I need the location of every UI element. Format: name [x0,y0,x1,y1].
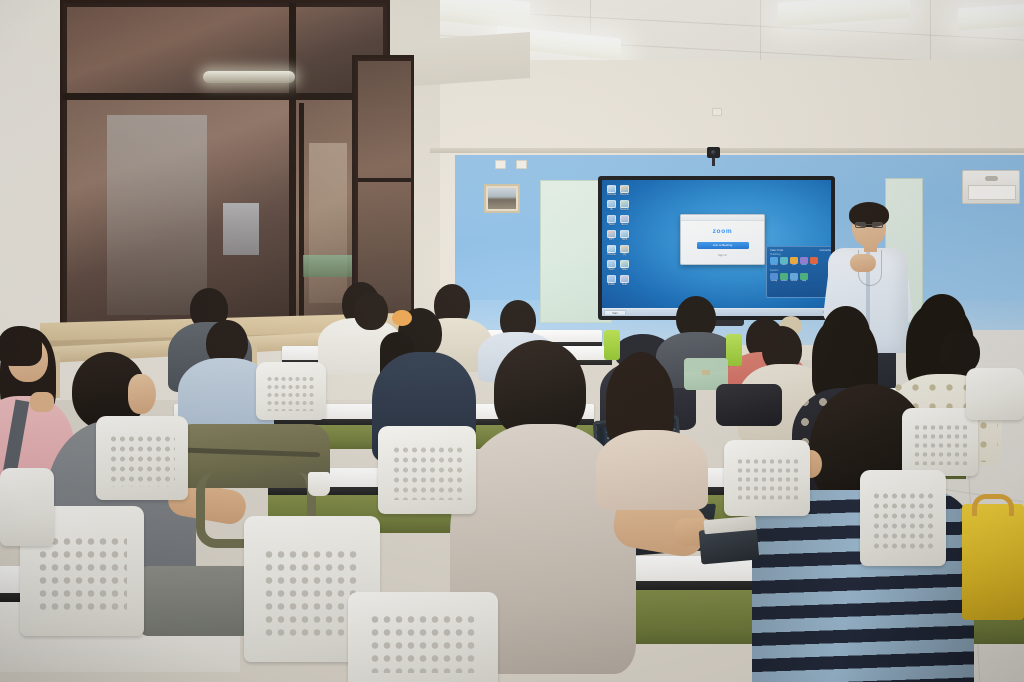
framed-photo [484,184,520,213]
desktop-icon[interactable]: WPS [620,230,629,241]
launcher-app-icon [800,273,808,280]
display-screen[interactable]: ComputerRecycleIENetworkWordExcelPPTWPSC… [602,180,831,316]
desktop-icon[interactable]: Network [620,200,629,211]
photo-image [488,188,516,209]
join-meeting-button[interactable]: Join a Meeting [697,242,749,249]
desktop-icon[interactable]: Chrome [607,245,616,256]
chair-far-left-back[interactable] [0,468,54,546]
launcher-app-icon [810,257,818,264]
desktop-icon-glyph [620,200,629,208]
launcher-app[interactable]: Source [790,273,798,283]
launcher-app-row: RecordNotesQuizShareCast [767,256,831,268]
desktop-icon[interactable]: Video [620,260,629,271]
green-bottle-2[interactable] [726,334,742,366]
desktop-icon-label: Recycle [620,193,629,196]
desktop-icon-label: Word [607,223,616,226]
corridor-reflection [107,115,207,315]
chair-front-center-2[interactable] [348,592,498,682]
yellow-tote-bag[interactable] [962,504,1024,620]
chair-right-back[interactable] [966,368,1024,420]
corridor-bench [303,255,357,277]
chair-back-left[interactable] [256,362,326,420]
wall-trim-rail [430,148,1024,153]
join-meeting-label: Join a Meeting [697,242,749,249]
launcher-app-icon [770,257,778,264]
light-switch-1[interactable] [495,160,506,169]
av-control-panel[interactable] [962,170,1020,204]
desktop-icon[interactable]: Tools [620,275,629,286]
zoom-titlebar[interactable] [681,215,764,221]
desktop-icon-label: QQ [620,253,629,256]
projection-display[interactable]: ComputerRecycleIENetworkWordExcelPPTWPSC… [598,176,835,320]
launcher-app-label: Quiz [790,264,798,267]
control-panel-display [968,185,1016,200]
launcher-app[interactable]: Quiz [790,257,798,267]
window-left [60,0,390,330]
desktop-icon-glyph [607,245,616,253]
corridor-poster [223,203,259,255]
launcher-app-icon [790,273,798,280]
corridor-door [309,143,347,303]
classroom-scene: ComputerRecycleIENetworkWordExcelPPTWPSC… [0,0,1024,682]
chair-mid-right[interactable] [724,440,810,516]
launcher-app-icon [770,273,778,280]
desktop-icon[interactable]: Word [607,215,616,226]
windows-taskbar[interactable]: Start 10:42 [602,308,831,316]
launcher-app-label: Share [800,264,808,267]
desktop-icon-label: Video [620,268,629,271]
start-button[interactable]: Start [604,310,626,316]
launcher-app[interactable]: Notes [780,257,788,267]
desktop-icon[interactable]: PPT [607,230,616,241]
desktop-icon-glyph [620,215,629,223]
student-shorts [140,566,250,636]
launcher-app[interactable]: Cast [810,257,818,267]
desktop-icon-label: IE [607,208,616,211]
green-bottle-1[interactable] [604,330,620,360]
desktop-icon-label: Tools [620,283,629,286]
launcher-status: Connected [819,249,831,252]
launcher-app[interactable]: Share [800,257,808,267]
student-face [128,374,156,414]
hair-scrunchie [392,310,412,326]
desktop-icon[interactable]: Excel [620,215,629,226]
launcher-app[interactable]: Setting [770,273,778,283]
launcher-sections: TeachingRecordNotesQuizShareCastSystemSe… [767,252,831,283]
desktop-icon-label: Excel [620,223,629,226]
light-switch-2[interactable] [516,160,527,169]
launcher-app[interactable]: Help [800,273,808,283]
instructor-hands [850,254,876,272]
launcher-app-icon [780,273,788,280]
handbag-clasp [702,370,710,375]
desktop-icon-label: PPT [607,238,616,241]
paper-cup[interactable] [308,472,330,496]
zoom-window[interactable]: zoom Join a Meeting Sign In [680,214,765,265]
sign-in-link[interactable]: Sign In [681,253,764,257]
black-bag [716,384,782,426]
desktop-icon-glyph [607,275,616,283]
launcher-app-label: Source [790,280,798,283]
launcher-app-label: Setting [770,280,778,283]
launcher-app-icon [800,257,808,264]
launcher-app-label: Record [770,264,778,267]
desktop-icon-glyph [607,230,616,238]
chair-mid-center[interactable] [378,426,476,514]
desktop-icon-glyph [607,200,616,208]
desktop-icon-label: WPS [620,238,629,241]
desktop-icon[interactable]: Recycle [620,185,629,196]
launcher-app[interactable]: Record [770,257,778,267]
desktop-icon[interactable]: IE [607,200,616,211]
chair-mid-left[interactable] [96,416,188,500]
corridor-light [203,71,295,83]
start-label: Start [605,311,625,317]
classroom-launcher-panel[interactable]: Class Tools Connected TeachingRecordNote… [766,246,831,298]
desktop-icon-label: Zoom [607,268,616,271]
desktop-icon-glyph [620,230,629,238]
desktop-icon-glyph [620,275,629,283]
chair-right-aisle-2[interactable] [860,470,946,566]
desktop-icon-glyph [607,185,616,193]
launcher-app-icon [790,257,798,264]
launcher-app-label: Help [800,280,808,283]
tote-handle [972,494,1014,516]
desktop-icon-glyph [620,185,629,193]
camera-mount [712,157,715,166]
camera-lens-icon [711,150,716,155]
instructor-glasses-icon [855,222,883,228]
launcher-app-row: SettingVolumeSourceHelp [767,272,831,284]
desktop-icon-label: Computer [607,193,616,196]
desktop-icon-label: Chrome [607,253,616,256]
desktop-icon-glyph [620,260,629,268]
desktop-icon[interactable]: Computer [607,185,616,196]
launcher-title: Class Tools [770,249,783,252]
desktop-icon-glyph [607,260,616,268]
launcher-app-icon [780,257,788,264]
launcher-app-label: Volume [780,280,788,283]
desktop-icon[interactable]: QQ [620,245,629,256]
launcher-app-label: Notes [780,264,788,267]
control-panel-knob[interactable] [985,176,998,181]
desktop-icon[interactable]: Zoom [607,260,616,271]
launcher-app[interactable]: Volume [780,273,788,283]
desktop-icon-glyph [620,245,629,253]
desktop-icon[interactable]: Folder [607,275,616,286]
desktop-icon-label: Network [620,208,629,211]
student-hand [30,392,54,412]
desktop-icon-label: Folder [607,283,616,286]
desktop-icon-glyph [607,215,616,223]
ceiling-light-4 [958,4,1024,31]
wall-sensor [712,108,722,116]
launcher-app-label: Cast [810,264,818,267]
zoom-logo: zoom [681,228,764,235]
